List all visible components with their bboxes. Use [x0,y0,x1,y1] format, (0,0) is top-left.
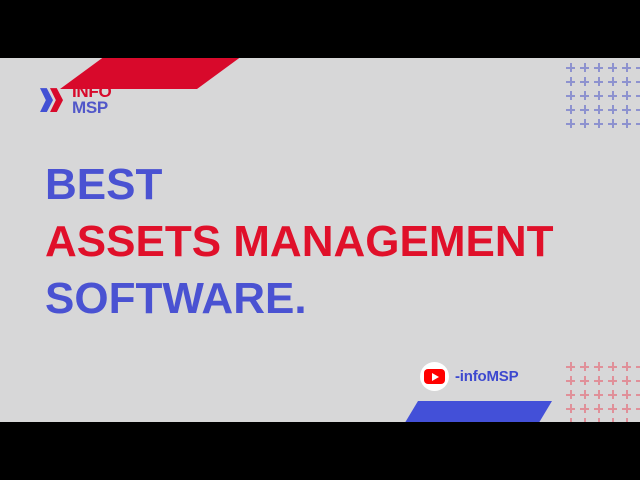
youtube-play-badge [424,369,445,384]
plus-icon [635,118,640,132]
plus-icon [565,403,579,417]
plus-icon [593,104,607,118]
plus-icon [593,76,607,90]
plus-icon [607,76,621,90]
plus-icon [565,90,579,104]
plus-icon [565,118,579,132]
plus-icon [607,389,621,403]
plus-icon [579,118,593,132]
brand-logo-wordmark: INFO MSP [72,84,111,116]
plus-icon [565,104,579,118]
plus-icon [621,90,635,104]
plus-icon [635,62,640,76]
headline-line-2: ASSETS MANAGEMENT [45,213,553,270]
headline: BEST ASSETS MANAGEMENT SOFTWARE. [45,156,553,327]
blue-angled-banner [400,401,552,422]
plus-icon [607,62,621,76]
plus-icon [565,62,579,76]
plus-icon [635,90,640,104]
plus-icon [579,104,593,118]
plus-icon [635,389,640,403]
plus-icon [607,403,621,417]
plus-icon [579,389,593,403]
letterbox-bar-bottom [0,422,640,480]
headline-line-1: BEST [45,156,553,213]
plus-icon [635,76,640,90]
plus-icon [593,90,607,104]
play-triangle-icon [432,373,439,381]
plus-icon [579,361,593,375]
plus-icon [593,62,607,76]
plus-icon [593,375,607,389]
plus-icon [621,62,635,76]
headline-line-3: SOFTWARE. [45,270,553,327]
plus-icon [593,361,607,375]
plus-icon [621,375,635,389]
plus-icon [607,104,621,118]
plus-icon [579,375,593,389]
youtube-icon [420,362,449,391]
plus-icon [607,375,621,389]
plus-icon [621,403,635,417]
plus-icon [621,361,635,375]
plus-icon [565,375,579,389]
plus-icon [621,104,635,118]
plus-icon [565,389,579,403]
plus-icon [621,76,635,90]
plus-icon [621,118,635,132]
video-frame: INFO MSP BEST ASSETS MANAGEMENT SOFTWARE… [0,0,640,480]
letterbox-bar-top [0,0,640,58]
plus-icon [593,403,607,417]
youtube-handle-label: -infoMSP [455,368,518,385]
slide-canvas: INFO MSP BEST ASSETS MANAGEMENT SOFTWARE… [0,58,640,422]
plus-pattern-bottom-right [565,361,640,422]
plus-icon [579,76,593,90]
chevron-outer-icon [40,88,53,112]
plus-icon [635,375,640,389]
plus-icon [593,389,607,403]
brand-logo: INFO MSP [40,84,111,116]
plus-icon [579,90,593,104]
brand-logo-msp: MSP [72,100,111,116]
plus-icon [565,76,579,90]
plus-icon [607,90,621,104]
youtube-handle-badge: -infoMSP [420,362,518,391]
plus-icon [607,118,621,132]
plus-icon [579,403,593,417]
plus-icon [579,62,593,76]
plus-icon [635,361,640,375]
plus-icon [635,403,640,417]
plus-pattern-top-right [565,62,640,132]
double-chevron-icon [40,85,66,115]
plus-icon [565,361,579,375]
plus-icon [621,389,635,403]
plus-icon [635,104,640,118]
plus-icon [607,361,621,375]
plus-icon [593,118,607,132]
